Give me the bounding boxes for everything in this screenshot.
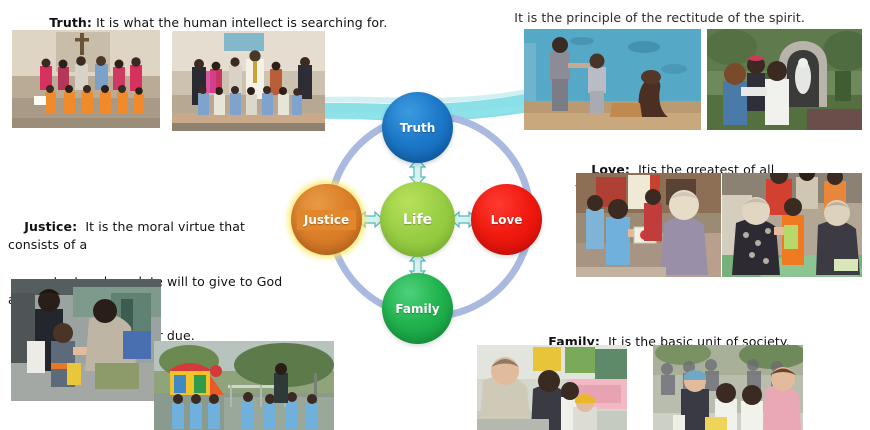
caption-truth-text: It is what the human intellect is search… [92,15,387,30]
diagram-node-truth-label: Truth [400,121,436,135]
photo-family-picnic-pink[interactable] [477,345,627,430]
slide-canvas: It is the principle of the rectitude of … [0,0,870,430]
diagram-node-justice-label: Justice [297,210,356,230]
caption-truth-label: Truth: [49,15,92,30]
photo-sea-lion-show[interactable] [524,29,701,130]
diagram-node-justice[interactable]: Justice [291,184,362,255]
diagram-node-truth[interactable]: Truth [382,92,453,163]
photo-grotto-shrine[interactable] [707,29,862,130]
photo-elderly-visit-orange[interactable] [722,173,862,277]
diagram-node-family[interactable]: Family [382,273,453,344]
photo-street-helping[interactable] [11,279,161,401]
diagram-node-love[interactable]: Love [471,184,542,255]
diagram-node-life[interactable]: Life [380,182,455,257]
diagram-node-life-label: Life [403,212,432,228]
photo-family-outdoor-meal[interactable] [653,345,803,430]
photo-playground-children[interactable] [154,341,334,430]
photo-church-group-orange[interactable] [12,30,160,128]
caption-cut-text: It is the principle of the rectitude of … [514,10,805,25]
photo-elderly-gift-blue[interactable] [576,173,721,277]
photo-church-group-priest[interactable] [172,31,325,131]
diagram-node-love-label: Love [491,213,523,227]
diagram-node-family-label: Family [395,302,439,316]
caption-justice-label: Justice: [24,219,77,234]
